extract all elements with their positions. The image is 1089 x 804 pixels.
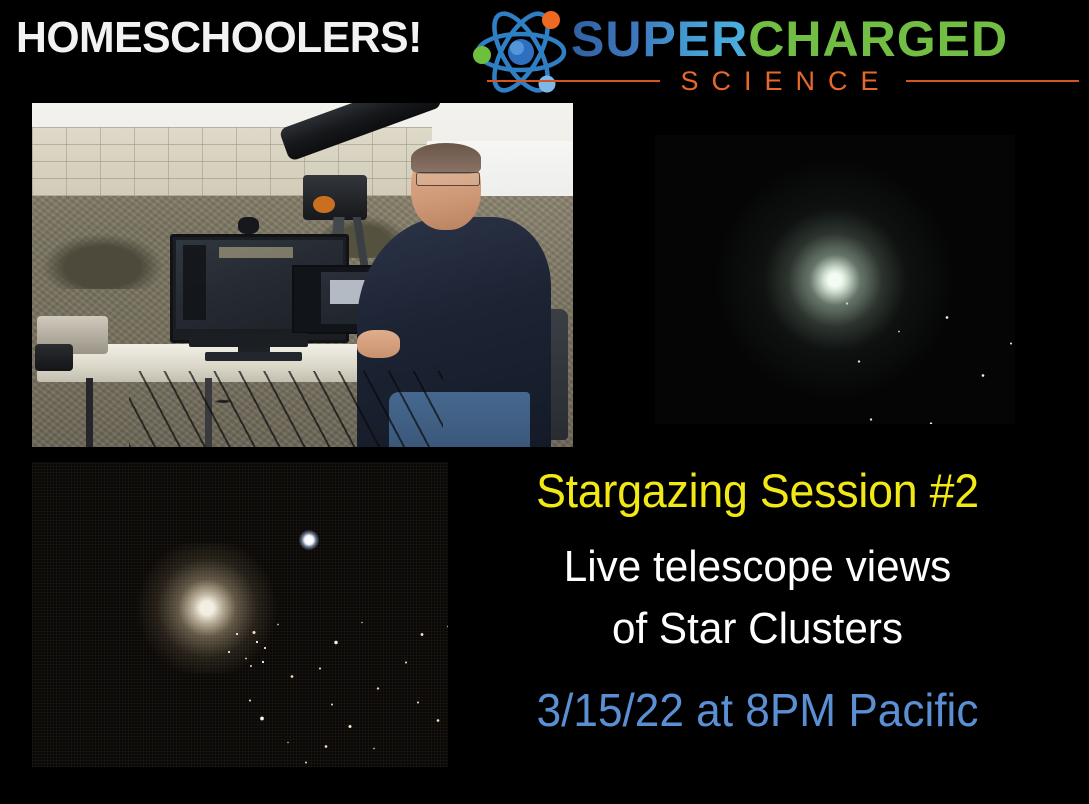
brand-wordmark: SUPERCHARGED — [571, 14, 1008, 64]
promo-subtitle-line-2: of Star Clusters — [482, 604, 1034, 654]
telescope-mount-knob — [313, 196, 335, 213]
starfield-cluster-stars — [142, 548, 272, 668]
promo-text-block: Stargazing Session #2 Live telescope vie… — [470, 455, 1089, 755]
bright-blue-star — [299, 530, 319, 550]
table-leg-left — [86, 378, 93, 447]
telescope-mount-head — [303, 175, 368, 220]
promo-date-time: 3/15/22 at 8PM Pacific — [482, 683, 1034, 737]
starfield-photo — [32, 462, 448, 767]
globular-cluster-photo — [655, 135, 1015, 424]
science-rule-left — [487, 80, 660, 82]
observer-photo — [32, 103, 573, 447]
monitor-base — [205, 352, 302, 361]
audience-headline: HOMESCHOOLERS! — [16, 13, 422, 63]
cluster-core — [760, 205, 910, 355]
webcam — [238, 217, 260, 234]
person-glasses — [416, 172, 480, 186]
brand-science-row: SCIENCE — [487, 66, 1079, 96]
science-rule-right — [906, 80, 1079, 82]
person-hand — [357, 330, 400, 358]
cables — [129, 371, 443, 447]
brand-word-science: SCIENCE — [674, 66, 891, 97]
camera-lens — [35, 344, 73, 372]
brand-word-super: SUPER — [571, 11, 748, 67]
keyboard — [189, 333, 308, 347]
promo-title: Stargazing Session #2 — [484, 463, 1030, 518]
photo-brush-left — [43, 234, 162, 289]
promo-subtitle-line-1: Live telescope views — [482, 542, 1034, 592]
brand-word-charged: CHARGED — [748, 11, 1008, 67]
promo-poster: HOMESCHOOLERS! SUPERCHARGED SCIENCE — [0, 0, 1089, 804]
brand-logo[interactable]: SUPERCHARGED SCIENCE — [463, 2, 1083, 98]
person-hair — [411, 143, 481, 174]
